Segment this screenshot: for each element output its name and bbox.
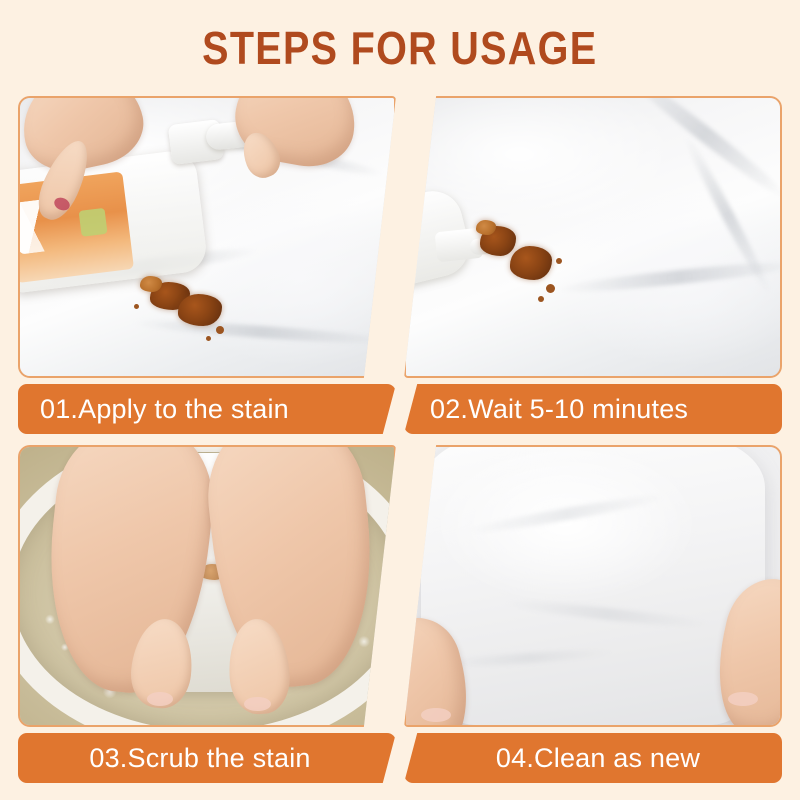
bottle-label-graphic: [79, 208, 108, 237]
step-caption-text: 03.Scrub the stain: [89, 743, 310, 774]
step-caption-text: 01.Apply to the stain: [40, 394, 289, 425]
step-photo-01: [18, 96, 396, 378]
step-caption-text: 02.Wait 5-10 minutes: [430, 394, 688, 425]
stain-speck: [556, 258, 562, 264]
step-caption-04: 04.Clean as new: [404, 733, 782, 783]
stain-speck: [216, 326, 224, 334]
photo-art-apply-to-stain: [20, 98, 394, 376]
steps-grid: 01.Apply to the stain: [0, 96, 800, 800]
stain-blob: [510, 246, 552, 280]
title-banner: STEPS FOR USAGE: [0, 0, 800, 96]
step-card-01[interactable]: 01.Apply to the stain: [18, 96, 396, 436]
page-title: STEPS FOR USAGE: [202, 21, 597, 75]
photo-art-scrub-stain: [20, 447, 394, 725]
step-card-03[interactable]: 03.Scrub the stain: [18, 445, 396, 785]
steps-row-bottom: 03.Scrub the stain: [0, 445, 800, 785]
step-caption-01: 01.Apply to the stain: [18, 384, 396, 434]
fingernail: [244, 697, 270, 711]
stain-blob: [178, 294, 222, 326]
step-photo-02: [404, 96, 782, 378]
stain-speck: [134, 304, 139, 309]
step-card-04[interactable]: 04.Clean as new: [404, 445, 782, 785]
photo-art-wait-minutes: [406, 98, 780, 376]
photo-art-clean-as-new: [406, 447, 780, 725]
step-photo-03: [18, 445, 396, 727]
stain-blob-light: [140, 276, 162, 292]
clean-garment: [421, 447, 765, 725]
fingernail: [147, 692, 173, 706]
infographic-page: STEPS FOR USAGE: [0, 0, 800, 800]
stain-speck: [538, 296, 544, 302]
stain-speck: [206, 336, 211, 341]
step-photo-04: [404, 445, 782, 727]
step-caption-text: 04.Clean as new: [496, 743, 700, 774]
step-card-02[interactable]: 02.Wait 5-10 minutes: [404, 96, 782, 436]
stain-blob-light: [476, 220, 496, 235]
stain-speck: [546, 284, 555, 293]
step-caption-03: 03.Scrub the stain: [18, 733, 396, 783]
step-caption-02: 02.Wait 5-10 minutes: [404, 384, 782, 434]
fingernail: [728, 692, 758, 706]
steps-row-top: 01.Apply to the stain: [0, 96, 800, 436]
